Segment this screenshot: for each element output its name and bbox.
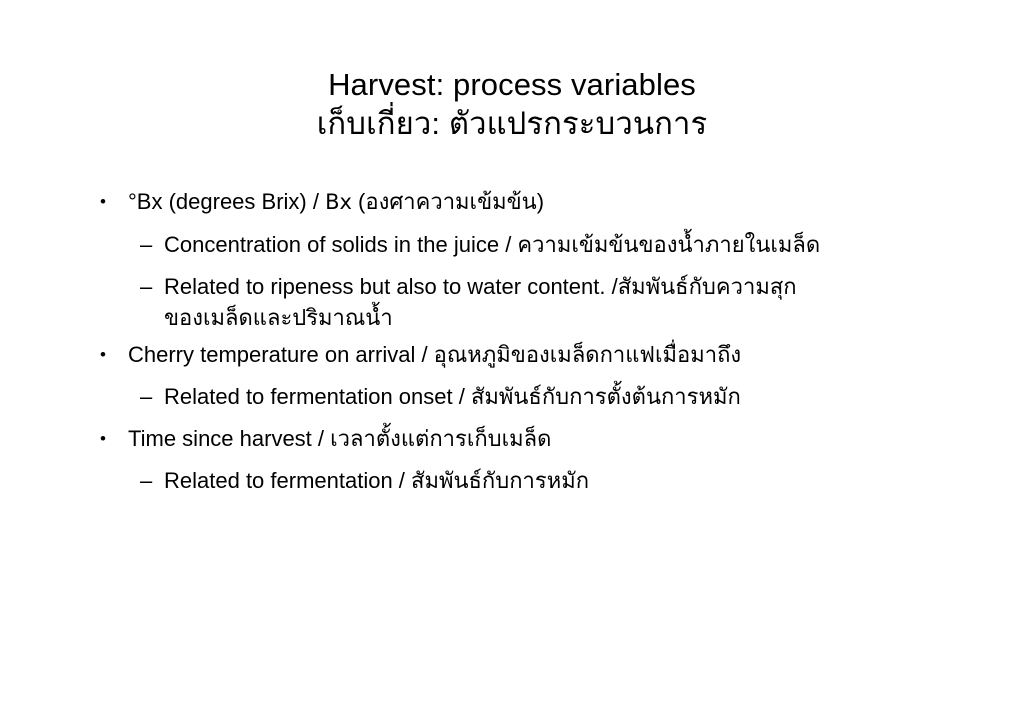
list-item: • °Bx (degrees Brix) / Bx (องศาความเข้มข… xyxy=(88,186,968,218)
list-item-text: Related to fermentation onset / สัมพันธ์… xyxy=(164,381,968,412)
list-item: – Related to fermentation / สัมพันธ์กับก… xyxy=(88,465,968,496)
slide-title: Harvest: process variables เก็บเกี่ยว: ต… xyxy=(0,66,1024,144)
list-item-text: Time since harvest / เวลาตั้งแต่การเก็บเ… xyxy=(128,423,968,454)
bullet-dash-icon: – xyxy=(140,381,164,412)
list-item-text: Cherry temperature on arrival / อุณหภูมิ… xyxy=(128,339,968,370)
bullet-dot-icon: • xyxy=(100,339,128,370)
bullet-dash-icon: – xyxy=(140,271,164,302)
list-item-text-alt: Bx xyxy=(325,190,352,214)
list-item-text: °Bx (degrees Brix) / Bx (องศาความเข้มข้น… xyxy=(128,186,968,218)
bullet-dot-icon: • xyxy=(100,423,128,454)
list-item-text: ของเมล็ดและปริมาณน้ำ xyxy=(164,302,968,333)
list-item-text: Related to fermentation / สัมพันธ์กับการ… xyxy=(164,465,968,496)
list-item: – Related to fermentation onset / สัมพัน… xyxy=(88,381,968,412)
list-item-text: Concentration of solids in the juice / ค… xyxy=(164,229,968,260)
list-item-text: Related to ripeness but also to water co… xyxy=(164,271,968,302)
list-item-text-prefix: °Bx (degrees Brix) / xyxy=(128,189,325,214)
list-item: • Cherry temperature on arrival / อุณหภู… xyxy=(88,339,968,370)
title-line-english: Harvest: process variables xyxy=(0,66,1024,104)
list-item: – Concentration of solids in the juice /… xyxy=(88,229,968,260)
bullet-dot-icon: • xyxy=(100,186,128,217)
list-item-continuation: ของเมล็ดและปริมาณน้ำ xyxy=(88,302,968,333)
bullet-dash-icon: – xyxy=(140,229,164,260)
title-line-thai: เก็บเกี่ยว: ตัวแปรกระบวนการ xyxy=(0,104,1024,144)
slide-canvas: Harvest: process variables เก็บเกี่ยว: ต… xyxy=(0,0,1024,724)
list-item: – Related to ripeness but also to water … xyxy=(88,271,968,302)
list-item: • Time since harvest / เวลาตั้งแต่การเก็… xyxy=(88,423,968,454)
slide-body-list: • °Bx (degrees Brix) / Bx (องศาความเข้มข… xyxy=(88,186,968,496)
list-item-text-suffix: (องศาความเข้มข้น) xyxy=(352,189,544,214)
bullet-dash-icon: – xyxy=(140,465,164,496)
